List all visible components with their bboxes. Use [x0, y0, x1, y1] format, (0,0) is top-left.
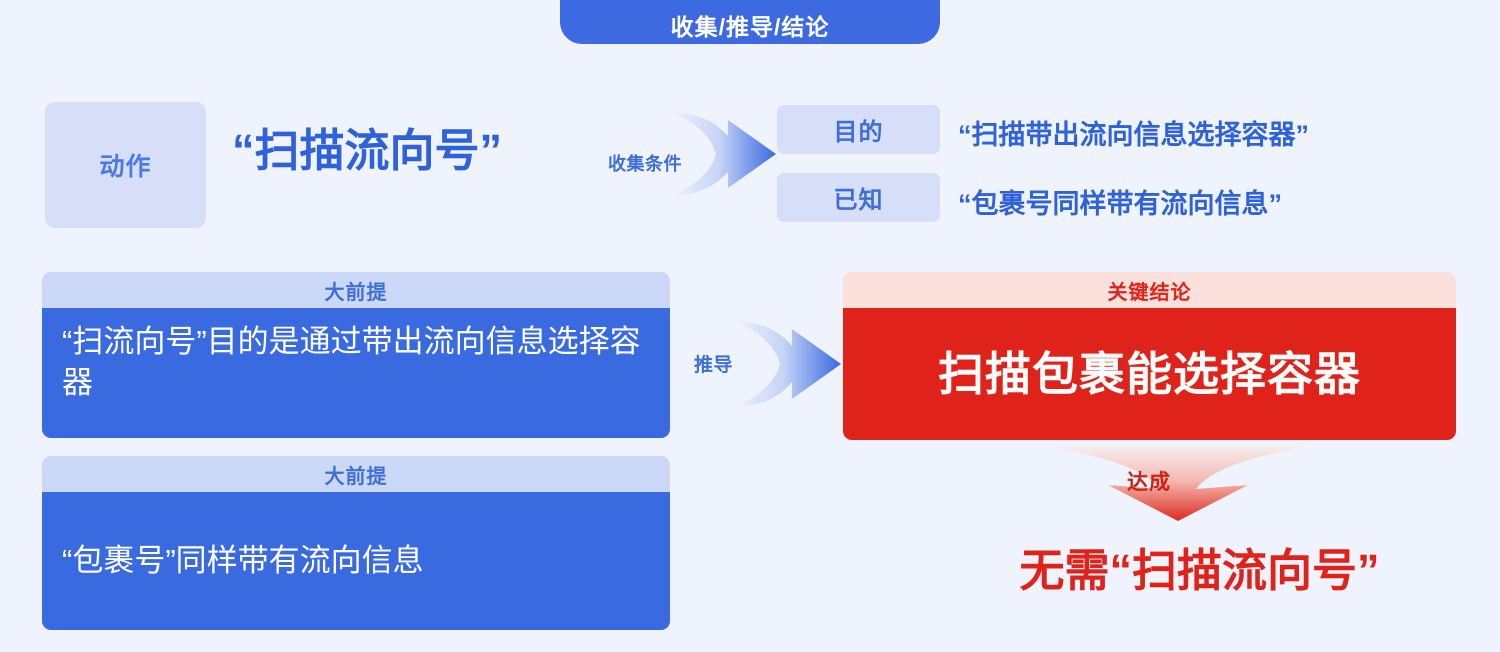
final-conclusion-text: 无需“扫描流向号” — [933, 534, 1466, 599]
action-chip-label: 动作 — [99, 147, 151, 183]
premise-card-text: “扫流向号”目的是通过带出流向信息选择容器 — [42, 322, 670, 404]
premise-card-2: 大前提 “包裹号”同样带有流向信息 — [42, 456, 670, 630]
section-tab-label: 收集/推导/结论 — [671, 16, 830, 39]
achieve-label: 达成 — [1127, 466, 1171, 496]
condition-tag-purpose: 目的 — [777, 105, 940, 154]
right-arrow-gradient-icon — [672, 106, 780, 202]
premise-card-1: 大前提 “扫流向号”目的是通过带出流向信息选择容器 — [42, 272, 670, 438]
condition-text-known: “包裹号同样带有流向信息” — [958, 182, 1282, 221]
down-arrow-gradient-icon — [1048, 445, 1308, 523]
condition-tag-known: 已知 — [777, 173, 940, 222]
premise-card-body: “扫流向号”目的是通过带出流向信息选择容器 — [42, 308, 670, 438]
section-tab-header: 收集/推导/结论 — [560, 0, 940, 44]
conclusion-card: 关键结论 扫描包裹能选择容器 — [843, 272, 1456, 440]
conclusion-card-text: 扫描包裹能选择容器 — [918, 344, 1381, 405]
condition-tag-label: 目的 — [834, 112, 884, 147]
conclusion-card-body: 扫描包裹能选择容器 — [843, 308, 1456, 440]
action-phrase: “扫描流向号” — [232, 126, 502, 176]
derive-label: 推导 — [694, 350, 733, 377]
conclusion-card-header: 关键结论 — [843, 272, 1456, 308]
premise-card-header: 大前提 — [42, 272, 670, 308]
condition-text-purpose: “扫描带出流向信息选择容器” — [958, 113, 1309, 152]
collect-condition-label: 收集条件 — [608, 150, 682, 176]
diagram-canvas: 收集/推导/结论 动作 “扫描流向号” 收集条件 目的 已知 “扫描带出流向信息… — [0, 0, 1500, 652]
premise-card-body: “包裹号”同样带有流向信息 — [42, 492, 670, 630]
condition-tag-label: 已知 — [834, 180, 884, 215]
action-chip: 动作 — [45, 102, 206, 228]
premise-card-header: 大前提 — [42, 456, 670, 492]
premise-card-text: “包裹号”同样带有流向信息 — [42, 541, 444, 582]
right-arrow-gradient-icon — [735, 315, 845, 413]
